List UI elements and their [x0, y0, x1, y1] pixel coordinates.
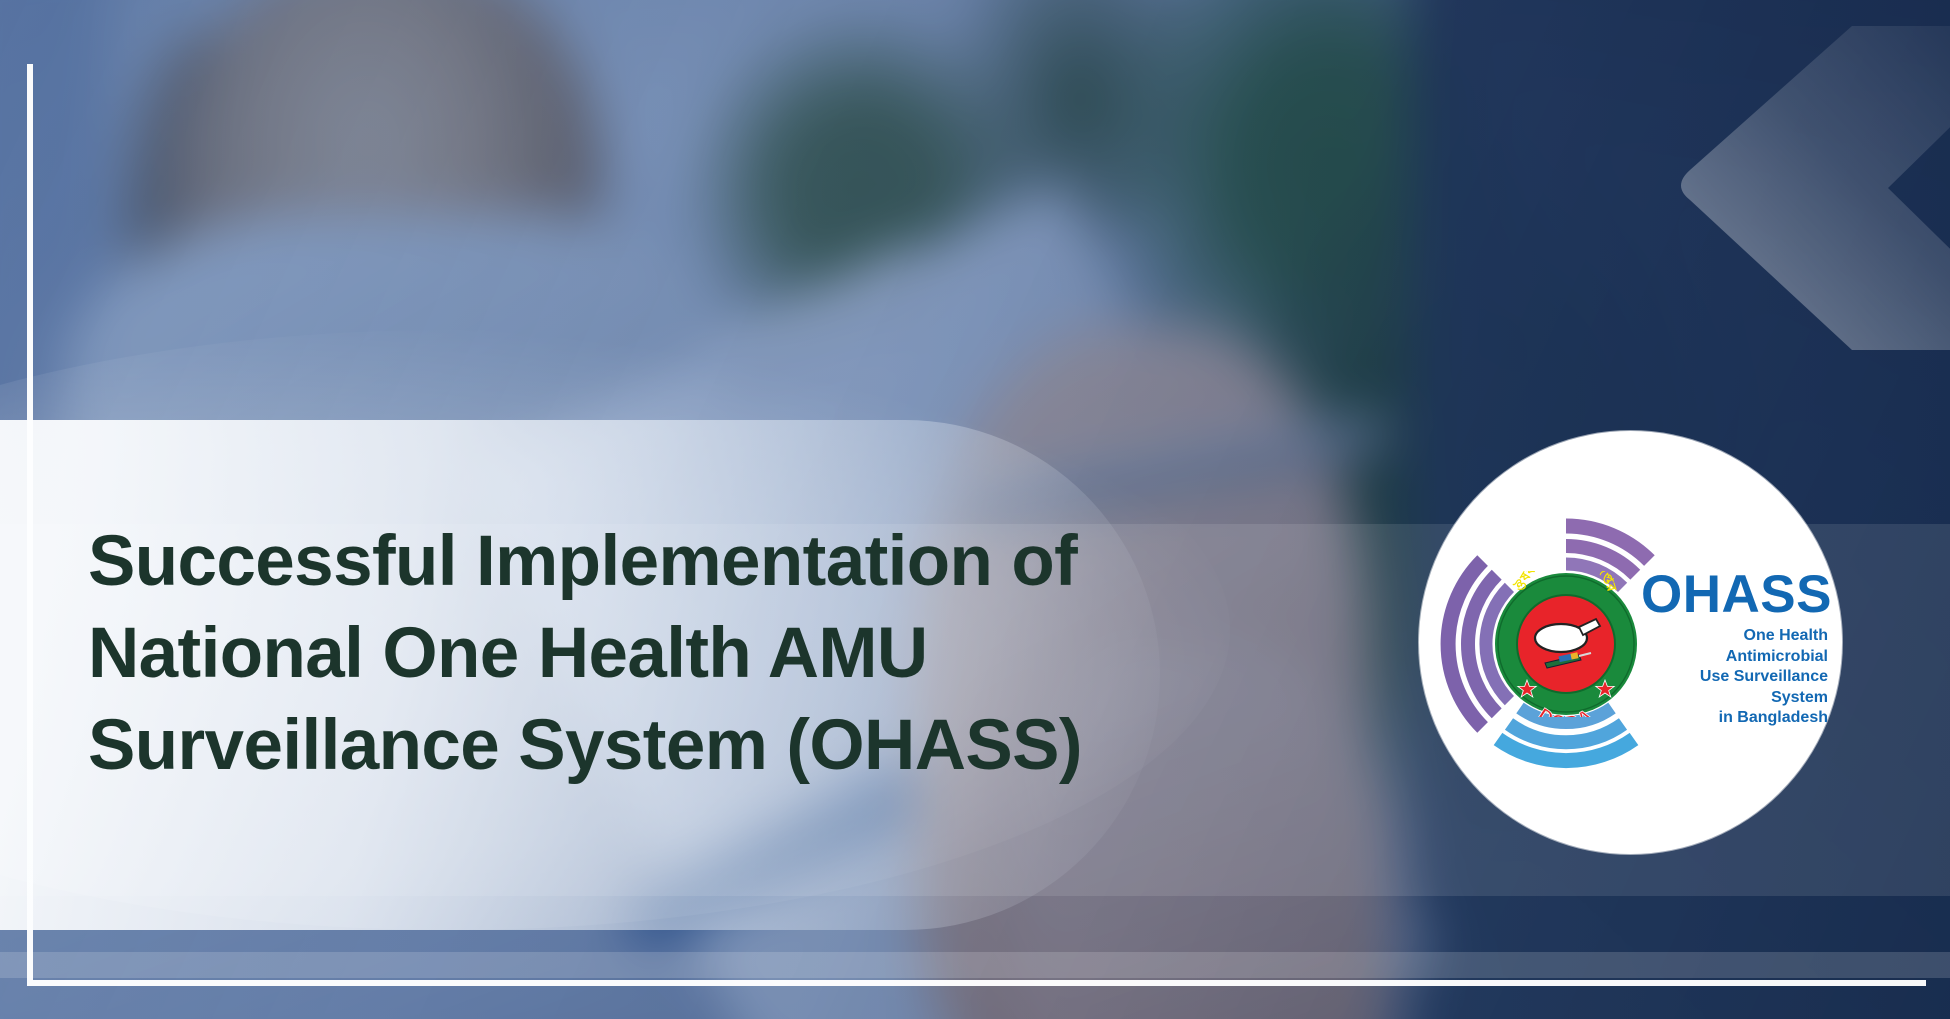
- page-title: Successful Implementation of National On…: [88, 516, 1098, 792]
- ohass-acronym: OHASS: [1641, 568, 1837, 622]
- dgda-seal-icon: ঔষধ প্রশাসন অধিদপ্তর: [1493, 571, 1639, 717]
- ohass-tagline: One Health Antimicrobial Use Surveillanc…: [1641, 626, 1828, 729]
- ohass-logo: ঔষধ প্রশাসন অধিদপ্তর: [1419, 431, 1842, 854]
- ohass-wordmark: OHASS One Health Antimicrobial Use Surve…: [1641, 568, 1837, 729]
- hero-banner: Successful Implementation of National On…: [0, 0, 1950, 1019]
